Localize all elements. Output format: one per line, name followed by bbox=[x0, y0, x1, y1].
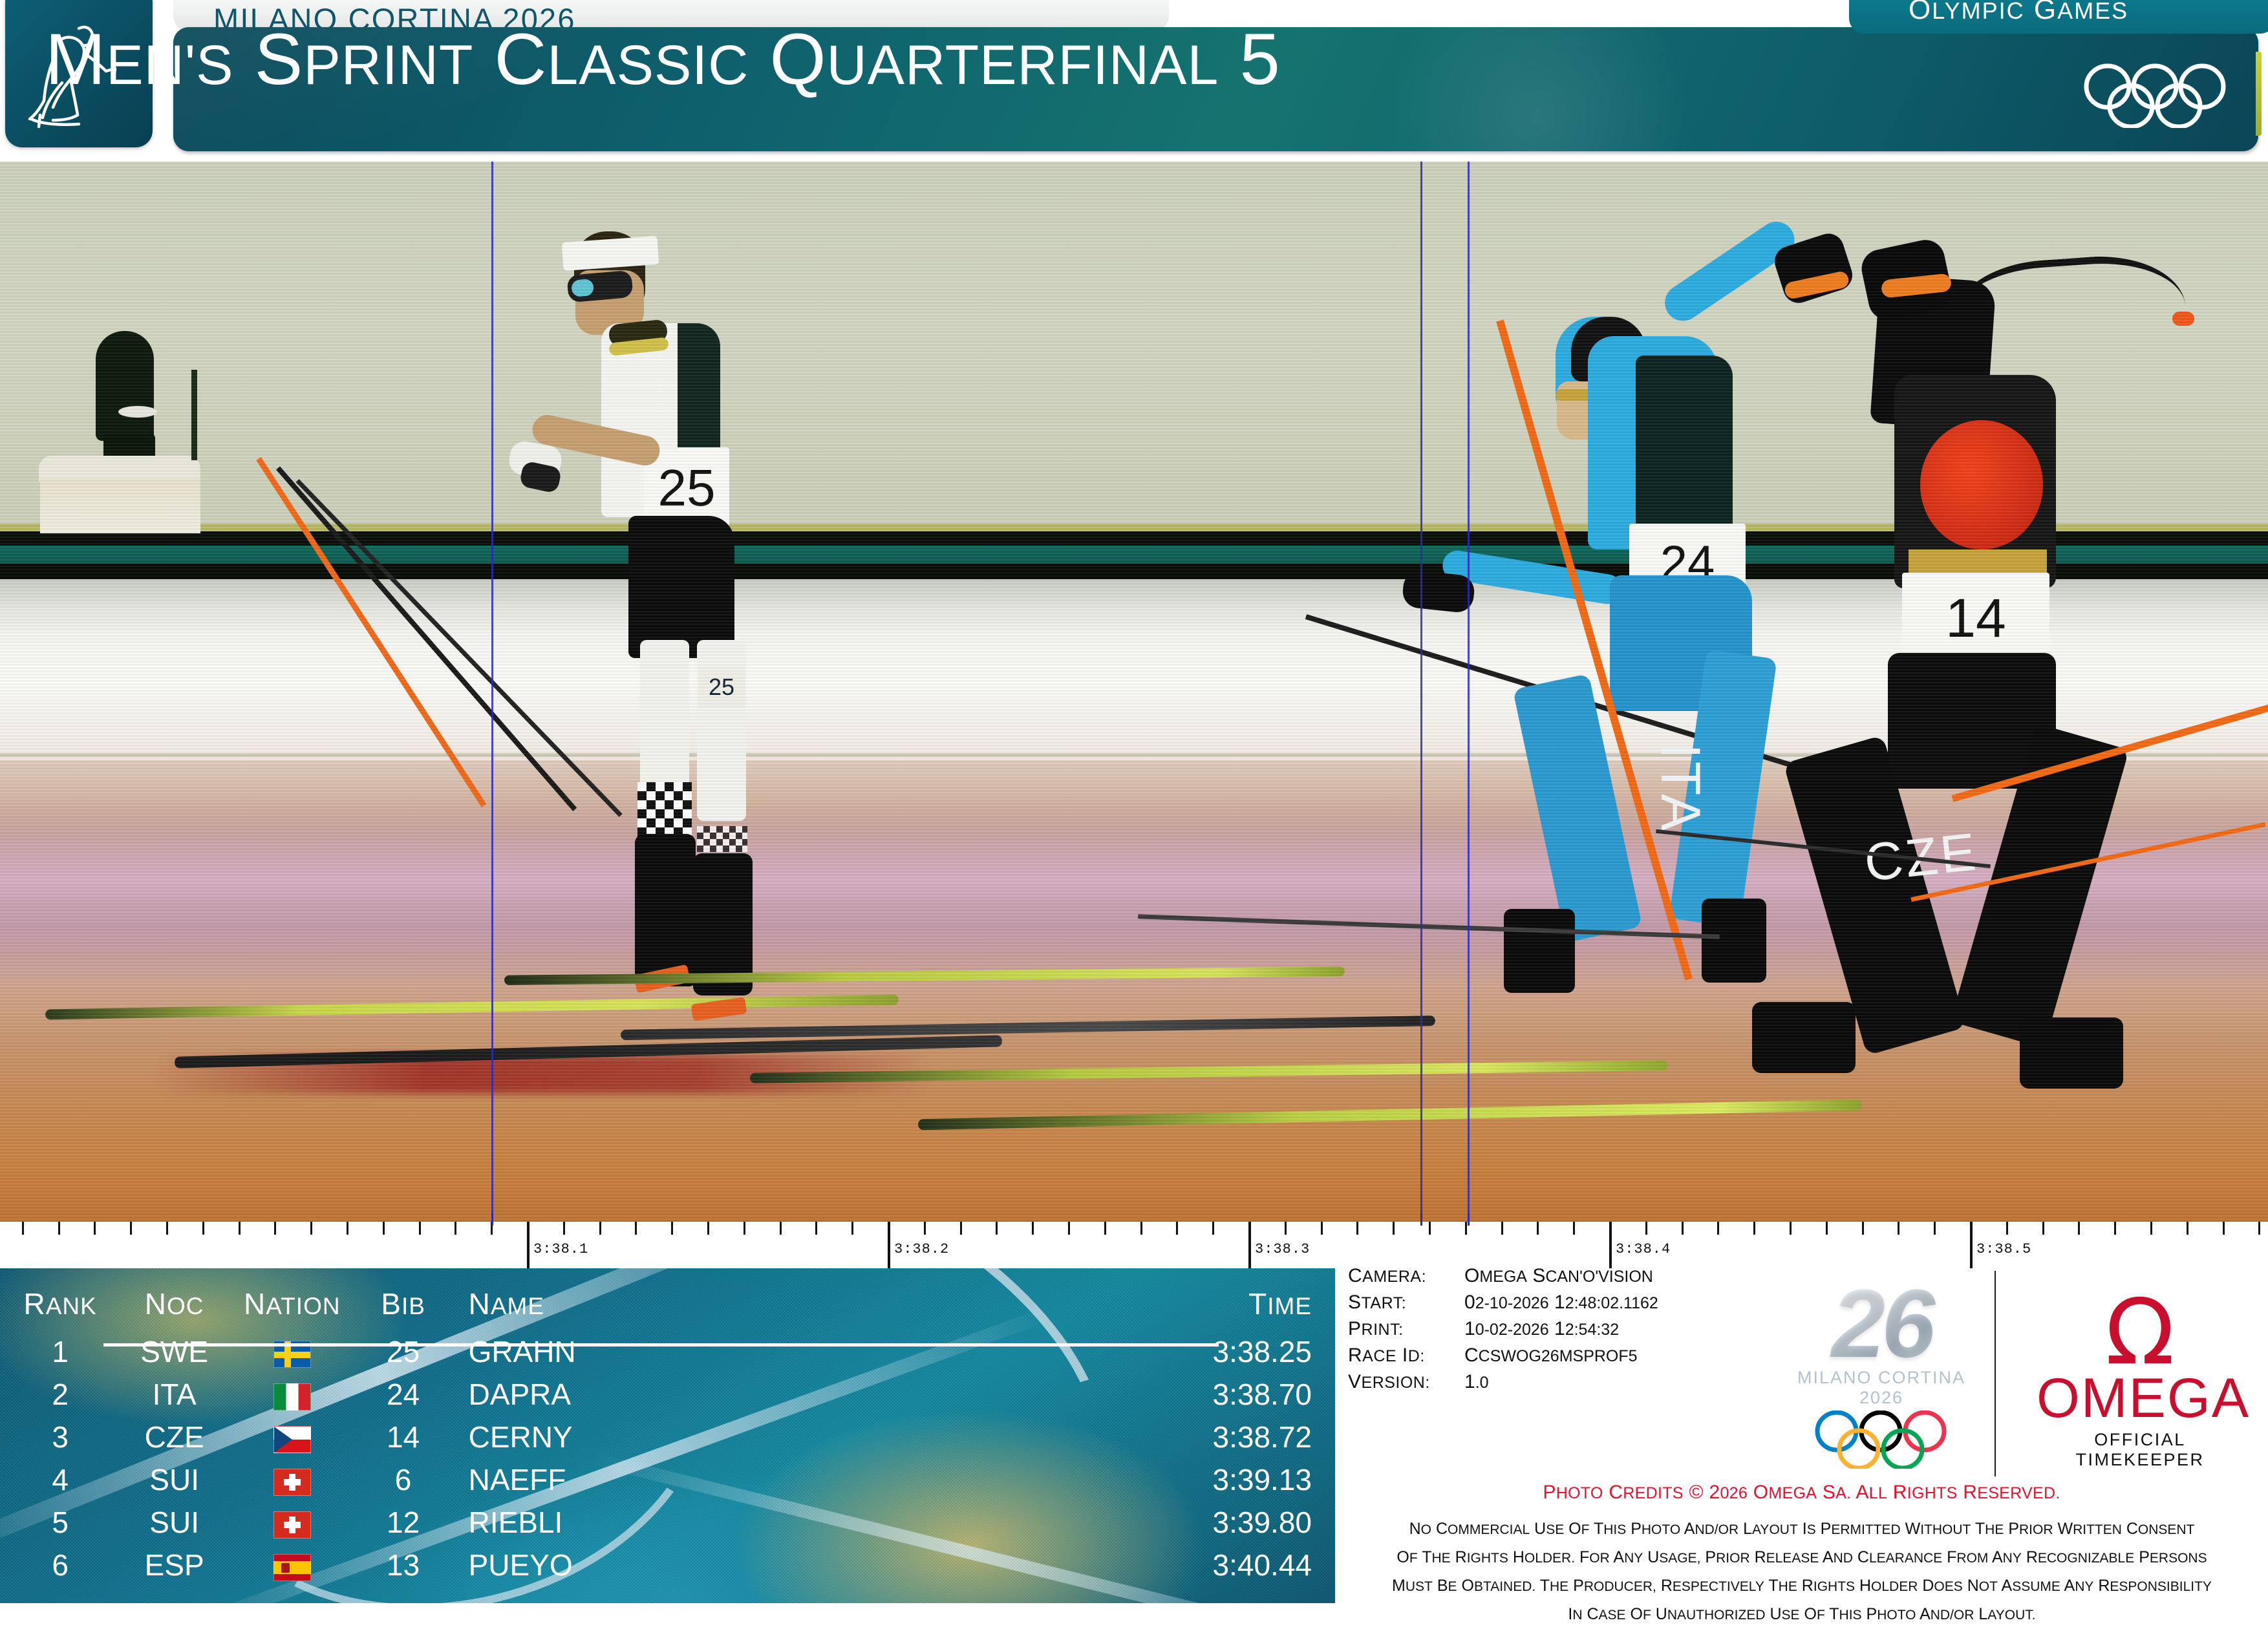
ruler-tick-minor bbox=[1826, 1222, 1828, 1235]
olympic-rings-icon bbox=[1813, 1411, 1949, 1469]
meta-value-start: 02-10-2026 12:48:02.1162 bbox=[1464, 1290, 1658, 1316]
cell-noc: ITA bbox=[120, 1373, 228, 1416]
page-title: MEN'S SPRINT CLASSIC QUARTERFINAL 5 bbox=[45, 5, 1281, 120]
ruler-tick-minor bbox=[1898, 1222, 1899, 1235]
cell-spacer bbox=[738, 1416, 1132, 1458]
ruler-tick-minor bbox=[707, 1222, 709, 1235]
ruler-tick-minor bbox=[996, 1222, 998, 1235]
ski-pole-tip bbox=[2172, 312, 2194, 326]
ruler-tick-minor bbox=[924, 1222, 926, 1235]
ruler-tick-minor bbox=[599, 1222, 601, 1235]
meta-value-version: 1.0 bbox=[1464, 1369, 1489, 1396]
ruler-tick-minor bbox=[2078, 1222, 2080, 1235]
results-table-body: 1 SWE 25 GRAHN 3:38.25 2 ITA 24 DAPRA 3:… bbox=[0, 1330, 1335, 1586]
ruler-tick-minor bbox=[635, 1222, 637, 1235]
meta-row-version: VERSION: 1.0 bbox=[1348, 1369, 1762, 1396]
cell-time: 3:39.13 bbox=[1131, 1458, 1335, 1501]
accent-edge bbox=[2256, 52, 2262, 136]
table-row[interactable]: 5 SUI 12 RIEBLI 3:39.80 bbox=[0, 1501, 1335, 1544]
finish-marker-line-1[interactable] bbox=[491, 162, 493, 1222]
meta-value-print: 10-02-2026 12:54:32 bbox=[1464, 1316, 1619, 1343]
ruler-tick-minor bbox=[2042, 1222, 2044, 1235]
ruler-tick-minor bbox=[1285, 1222, 1287, 1235]
meta-label-camera: CAMERA: bbox=[1348, 1263, 1464, 1290]
ruler-time-label: 3:38.1 bbox=[533, 1241, 588, 1257]
cell-nation bbox=[228, 1501, 356, 1544]
meta-label-version: VERSION: bbox=[1348, 1369, 1464, 1396]
logo-divider bbox=[1995, 1271, 1996, 1476]
ruler-tick-major bbox=[527, 1222, 530, 1268]
column-header-spacer bbox=[738, 1268, 1132, 1330]
athlete-bib-14: 14 CZE bbox=[1759, 162, 2268, 1222]
ruler-tick-minor bbox=[347, 1222, 348, 1235]
meta-row-print: PRINT: 10-02-2026 12:54:32 bbox=[1348, 1316, 1762, 1343]
ruler-tick-minor bbox=[815, 1222, 817, 1235]
cell-rank: 3 bbox=[0, 1416, 120, 1458]
cell-name: NAEFF bbox=[451, 1458, 738, 1501]
background-camera-lens bbox=[118, 406, 157, 418]
omega-tagline: OFFICIAL TIMEKEEPER bbox=[2037, 1430, 2243, 1470]
cell-noc: SUI bbox=[120, 1501, 228, 1544]
legal-line: NO COMMERCIAL USE OF THIS PHOTO AND/OR L… bbox=[1356, 1515, 2248, 1544]
flag-icon-esp bbox=[273, 1554, 311, 1581]
table-row[interactable]: 4 SUI 6 NAEFF 3:39.13 bbox=[0, 1458, 1335, 1501]
meta-label-print: PRINT: bbox=[1348, 1316, 1464, 1343]
meta-row-camera: CAMERA: OMEGA SCAN'O'VISION bbox=[1348, 1263, 1762, 1290]
ruler-tick-minor bbox=[455, 1222, 456, 1235]
mc-emblem-mark: 26 bbox=[1791, 1275, 1972, 1372]
ruler-tick-minor bbox=[1501, 1222, 1503, 1235]
ruler-tick-minor bbox=[1393, 1222, 1395, 1235]
table-row[interactable]: 2 ITA 24 DAPRA 3:38.70 bbox=[0, 1373, 1335, 1416]
column-header-nation: NATION bbox=[228, 1268, 356, 1330]
ruler-tick-major bbox=[1609, 1222, 1612, 1268]
checker-pattern-2 bbox=[697, 826, 747, 852]
ruler-tick-minor bbox=[383, 1222, 385, 1235]
info-panel: CAMERA: OMEGA SCAN'O'VISION START: 02-10… bbox=[1335, 1268, 2268, 1603]
ruler-tick-minor bbox=[1934, 1222, 1936, 1235]
ruler-tick-minor bbox=[851, 1222, 853, 1235]
results-panel: RANK NOC NATION BIB NAME TIME 1 SWE 25 G… bbox=[0, 1268, 1335, 1603]
column-header-bib: BIB bbox=[356, 1268, 451, 1330]
cell-rank: 1 bbox=[0, 1330, 120, 1373]
cell-spacer bbox=[738, 1373, 1132, 1416]
ruler-tick-minor bbox=[310, 1222, 312, 1235]
cell-bib: 6 bbox=[356, 1458, 451, 1501]
ruler-marker-1 bbox=[491, 1213, 493, 1226]
bib-number: 14 bbox=[1902, 578, 2049, 658]
ruler-tick-minor bbox=[780, 1222, 782, 1235]
results-table: RANK NOC NATION BIB NAME TIME 1 SWE 25 G… bbox=[0, 1268, 1335, 1586]
ruler-tick-minor bbox=[22, 1222, 24, 1235]
omega-wordmark: OMEGA bbox=[2037, 1372, 2243, 1425]
cell-name: PUEYO bbox=[451, 1544, 738, 1586]
table-row[interactable]: 1 SWE 25 GRAHN 3:38.25 bbox=[0, 1330, 1335, 1373]
ruler-tick-minor bbox=[1212, 1222, 1214, 1235]
ruler-tick-major bbox=[1248, 1222, 1251, 1268]
cell-nation bbox=[228, 1544, 356, 1586]
ski-boot-back bbox=[635, 834, 696, 986]
ruler-tick-minor bbox=[1682, 1222, 1684, 1235]
background-equipment-body bbox=[40, 478, 200, 533]
ruler-marker-2 bbox=[1420, 1213, 1422, 1226]
flag-icon-sui bbox=[273, 1511, 311, 1538]
omega-symbol-icon: Ω bbox=[2037, 1294, 2243, 1372]
ruler-tick-minor bbox=[1862, 1222, 1864, 1235]
cell-spacer bbox=[738, 1501, 1132, 1544]
sunglasses-icon bbox=[566, 270, 633, 303]
legal-line: MUST BE OBTAINED. THE PRODUCER, RESPECTI… bbox=[1356, 1572, 2248, 1601]
cell-name: RIEBLI bbox=[451, 1501, 738, 1544]
ruler-tick-minor bbox=[94, 1222, 96, 1235]
page-header: MILANO CORTINA 2026 bbox=[0, 0, 2268, 162]
ruler-tick-minor bbox=[1465, 1222, 1467, 1235]
olympic-rings-icon bbox=[2082, 63, 2231, 128]
leg-bib-patch: 25 bbox=[698, 667, 745, 707]
ski-boot-front bbox=[1702, 899, 1766, 983]
ruler-tick-major bbox=[888, 1222, 890, 1268]
column-header-name: NAME bbox=[451, 1268, 738, 1330]
cell-spacer bbox=[738, 1458, 1132, 1501]
ruler-tick-major bbox=[1970, 1222, 1973, 1268]
ruler-tick-minor bbox=[960, 1222, 962, 1235]
athlete-bib-25: 25 25 bbox=[491, 162, 879, 1222]
cell-rank: 5 bbox=[0, 1501, 120, 1544]
column-header-time: TIME bbox=[1131, 1268, 1335, 1330]
meta-label-raceid: RACE ID: bbox=[1348, 1343, 1464, 1369]
ski-boot-front bbox=[2020, 1017, 2123, 1089]
gloss-highlight-2 bbox=[1369, 27, 1706, 151]
cell-nation bbox=[228, 1458, 356, 1501]
mc-emblem-year: 2026 bbox=[1791, 1388, 1972, 1408]
ruler-time-label: 3:38.5 bbox=[1976, 1241, 2031, 1257]
cell-name: CERNY bbox=[451, 1416, 738, 1458]
background-post bbox=[191, 370, 197, 460]
cell-bib: 25 bbox=[356, 1330, 451, 1373]
ruler-tick-minor bbox=[1717, 1222, 1719, 1235]
table-header-rule bbox=[103, 1343, 1219, 1347]
cell-spacer bbox=[738, 1544, 1132, 1586]
ruler-tick-minor bbox=[1753, 1222, 1755, 1235]
ruler-tick-minor bbox=[1645, 1222, 1647, 1235]
table-row[interactable]: 6 ESP 13 PUEYO 3:40.44 bbox=[0, 1544, 1335, 1586]
cell-rank: 2 bbox=[0, 1373, 120, 1416]
cell-noc: ESP bbox=[120, 1544, 228, 1586]
background-equipment-top bbox=[39, 456, 200, 482]
ruler-tick-minor bbox=[2187, 1222, 2188, 1235]
ruler-tick-minor bbox=[58, 1222, 60, 1235]
ruler-tick-minor bbox=[419, 1222, 421, 1235]
time-ruler: 3:38.13:38.23:38.33:38.43:38.5 bbox=[0, 1222, 2268, 1268]
ruler-tick-minor bbox=[1176, 1222, 1178, 1235]
mc-emblem-name: MILANO CORTINA bbox=[1791, 1368, 1972, 1388]
ruler-tick-minor bbox=[239, 1222, 241, 1235]
cell-name: DAPRA bbox=[451, 1373, 738, 1416]
ski-boot-back bbox=[1504, 909, 1575, 993]
photo-finish-image: 25 25 bbox=[0, 162, 2268, 1222]
ruler-tick-minor bbox=[274, 1222, 276, 1235]
column-header-noc: NOC bbox=[120, 1268, 228, 1330]
cell-bib: 14 bbox=[356, 1416, 451, 1458]
ruler-tick-minor bbox=[130, 1222, 132, 1235]
meta-value-raceid: CCSWOG26MSPROF5 bbox=[1464, 1343, 1638, 1369]
legal-line: IN CASE OF UNAUTHORIZED USE OF THIS PHOT… bbox=[1356, 1601, 2248, 1629]
cell-noc: CZE bbox=[120, 1416, 228, 1458]
leg-bib-number: 25 bbox=[698, 667, 745, 707]
meta-value-camera: OMEGA SCAN'O'VISION bbox=[1464, 1263, 1653, 1290]
ruler-tick-minor bbox=[1356, 1222, 1358, 1235]
cell-bib: 24 bbox=[356, 1373, 451, 1416]
flag-icon-ita bbox=[273, 1383, 311, 1411]
cell-bib: 13 bbox=[356, 1544, 451, 1586]
finish-marker-line-3[interactable] bbox=[1468, 162, 1470, 1222]
checker-pattern-1 bbox=[637, 782, 692, 836]
cell-time: 3:38.70 bbox=[1131, 1373, 1335, 1416]
cell-time: 3:40.44 bbox=[1131, 1544, 1335, 1586]
cell-name: GRAHN bbox=[451, 1330, 738, 1373]
cell-spacer bbox=[738, 1330, 1132, 1373]
cell-rank: 6 bbox=[0, 1544, 120, 1586]
ruler-time-label: 3:38.3 bbox=[1255, 1241, 1310, 1257]
background-camera-head bbox=[96, 331, 154, 441]
ruler-time-label: 3:38.4 bbox=[1616, 1241, 1671, 1257]
ruler-tick-minor bbox=[166, 1222, 168, 1235]
meta-row-raceid: RACE ID: CCSWOG26MSPROF5 bbox=[1348, 1343, 1762, 1369]
ruler-tick-minor bbox=[2223, 1222, 2225, 1235]
ruler-tick-minor bbox=[744, 1222, 745, 1235]
athlete-hip bbox=[628, 516, 734, 658]
meta-row-start: START: 02-10-2026 12:48:02.1162 bbox=[1348, 1290, 1762, 1316]
cell-time: 3:39.80 bbox=[1131, 1501, 1335, 1544]
capture-metadata: CAMERA: OMEGA SCAN'O'VISION START: 02-10… bbox=[1348, 1263, 1762, 1396]
suit-nation-text: ITA bbox=[1648, 743, 1712, 833]
table-header-row: RANK NOC NATION BIB NAME TIME bbox=[0, 1268, 1335, 1330]
ruler-tick-minor bbox=[563, 1222, 565, 1235]
ruler-time-label: 3:38.2 bbox=[894, 1241, 949, 1257]
column-header-rank: RANK bbox=[0, 1268, 120, 1330]
flag-icon-cze bbox=[273, 1426, 311, 1453]
ruler-tick-minor bbox=[202, 1222, 204, 1235]
ruler-tick-minor bbox=[671, 1222, 673, 1235]
cell-rank: 4 bbox=[0, 1458, 120, 1501]
ruler-tick-minor bbox=[1321, 1222, 1323, 1235]
photo-credits: PHOTO CREDITS © 2026 OMEGA SA. ALL RIGHT… bbox=[1335, 1482, 2268, 1504]
ruler-tick-minor bbox=[1140, 1222, 1142, 1235]
omega-logo: Ω OMEGA OFFICIAL TIMEKEEPER bbox=[2037, 1294, 2243, 1470]
cell-bib: 12 bbox=[356, 1501, 451, 1544]
cell-nation bbox=[228, 1373, 356, 1416]
cell-time: 3:38.72 bbox=[1131, 1416, 1335, 1458]
milano-cortina-logo: 26 MILANO CORTINA 2026 bbox=[1791, 1275, 1972, 1436]
finish-marker-line-2[interactable] bbox=[1420, 162, 1422, 1222]
ruler-tick-minor bbox=[1068, 1222, 1070, 1235]
bib-number: 25 bbox=[644, 452, 729, 524]
meta-label-start: START: bbox=[1348, 1290, 1464, 1316]
cell-noc: SUI bbox=[120, 1458, 228, 1501]
ruler-tick-minor bbox=[1537, 1222, 1539, 1235]
legal-line: OF THE RIGHTS HOLDER. FOR ANY USAGE, PRI… bbox=[1356, 1544, 2248, 1572]
ruler-marker-3 bbox=[1468, 1213, 1470, 1226]
ruler-tick-minor bbox=[1573, 1222, 1575, 1235]
cell-noc: SWE bbox=[120, 1330, 228, 1373]
ruler-tick-minor bbox=[1104, 1222, 1106, 1235]
ski-boot-back bbox=[1752, 1002, 1856, 1073]
photo-finish-page: MILANO CORTINA 2026 bbox=[0, 0, 2268, 1603]
suit-gold-stripe bbox=[1909, 549, 2047, 575]
table-row[interactable]: 3 CZE 14 CERNY 3:38.72 bbox=[0, 1416, 1335, 1458]
ruler-tick-minor bbox=[1032, 1222, 1034, 1235]
olympic-games-label: OLYMPIC GAMES bbox=[1909, 0, 2128, 26]
suit-red-panel bbox=[1920, 420, 2043, 549]
ruler-tick-minor bbox=[2258, 1222, 2260, 1235]
cell-nation bbox=[228, 1330, 356, 1373]
flag-icon-sui bbox=[273, 1469, 311, 1496]
legal-notice: NO COMMERCIAL USE OF THIS PHOTO AND/OR L… bbox=[1356, 1515, 2248, 1629]
ruler-tick-minor bbox=[1790, 1222, 1792, 1235]
cell-nation bbox=[228, 1416, 356, 1458]
ruler-tick-minor bbox=[2006, 1222, 2008, 1235]
ruler-tick-minor bbox=[2150, 1222, 2152, 1235]
ruler-tick-minor bbox=[2114, 1222, 2116, 1235]
ruler-tick-minor bbox=[1429, 1222, 1431, 1235]
cell-time: 3:38.25 bbox=[1131, 1330, 1335, 1373]
